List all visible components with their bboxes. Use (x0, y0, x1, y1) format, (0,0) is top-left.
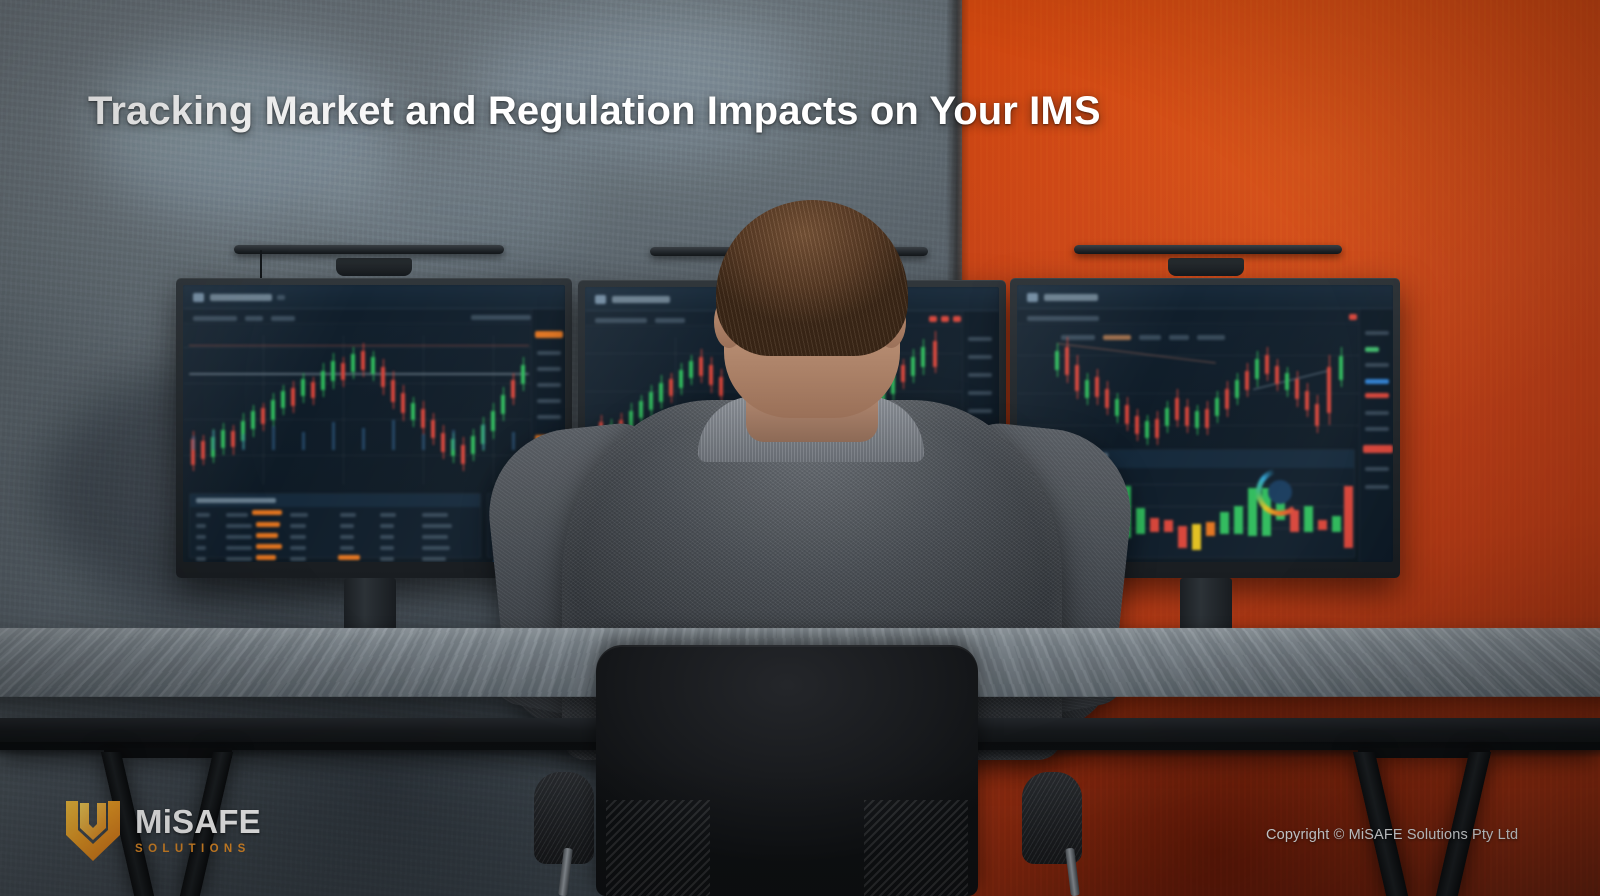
brand-logo[interactable]: MiSAFE SOLUTIONS (62, 795, 261, 865)
page-title: Tracking Market and Regulation Impacts o… (88, 89, 1388, 134)
left-monitor-lightbar[interactable] (234, 245, 504, 254)
brand-name: MiSAFE (135, 805, 261, 838)
left-monitor-lightbar-mount (336, 258, 412, 276)
right-monitor-neck (1180, 578, 1232, 634)
chair-mesh-right (864, 800, 968, 896)
left-monitor-neck (344, 578, 396, 634)
shield-chevron-icon (62, 795, 124, 865)
right-monitor-lightbar-mount (1168, 258, 1244, 276)
slide-canvas: Tracking Market and Regulation Impacts o… (0, 0, 1600, 896)
chair-backrest (596, 645, 978, 896)
chair-mesh-left (606, 800, 710, 896)
brand-tagline: SOLUTIONS (135, 844, 261, 856)
right-monitor-sidebar[interactable] (1359, 309, 1393, 562)
left-orders-table[interactable] (189, 493, 481, 558)
hair (716, 200, 908, 356)
copyright-text: Copyright © MiSAFE Solutions Pty Ltd (1266, 827, 1586, 843)
